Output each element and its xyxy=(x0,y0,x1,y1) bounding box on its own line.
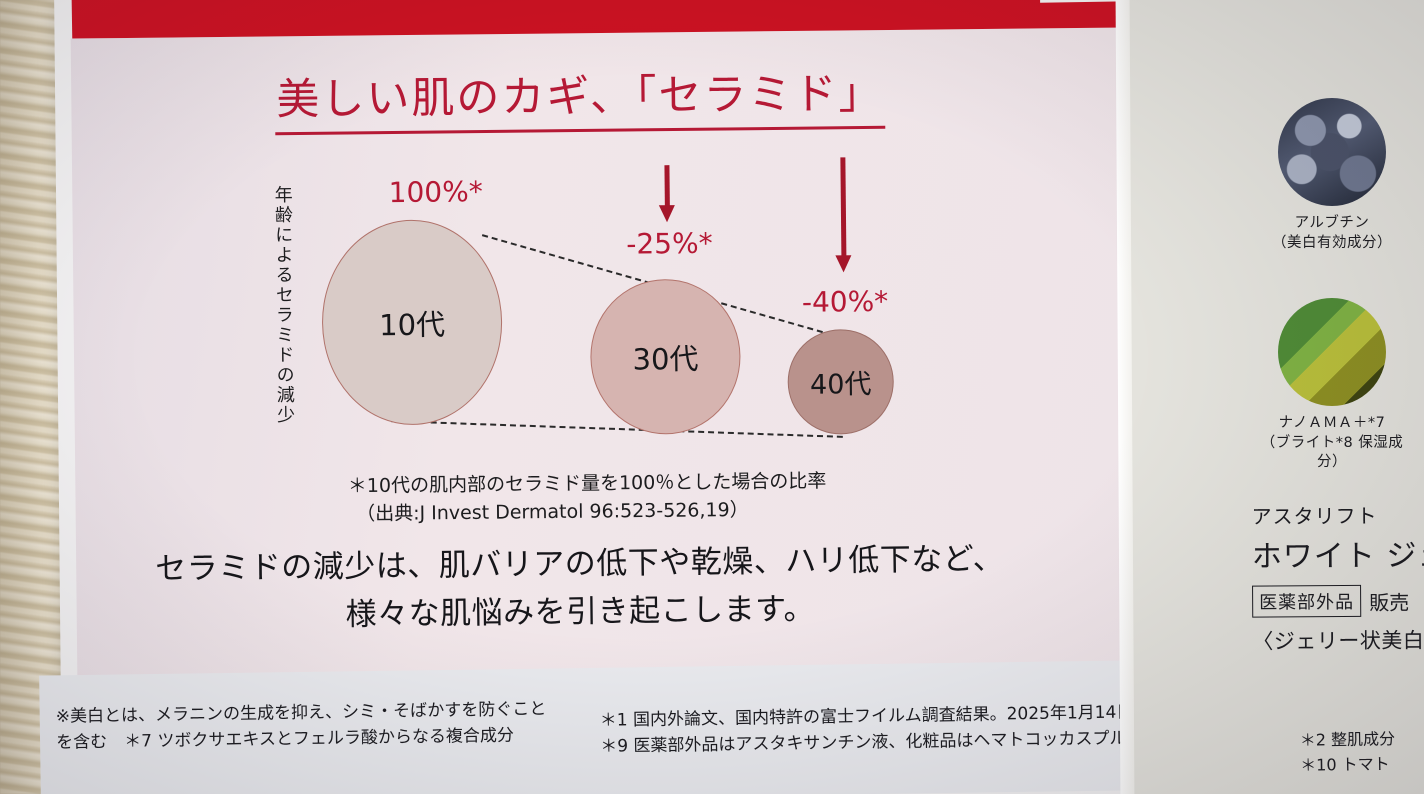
body-copy: セラミドの減少は、肌バリアの低下や乾燥、ハリ低下など、 様々な肌悩みを引き起こし… xyxy=(129,535,1030,642)
product-brand: アスタリフト xyxy=(1252,499,1424,529)
value-label-30s: -25%* xyxy=(626,227,713,261)
arbutin-photo-icon xyxy=(1278,98,1386,206)
chart-axis-label: 年齢によるセラミドの減少 xyxy=(261,185,294,425)
footnote-right-line-1: ＊2 整肌成分 xyxy=(1300,727,1396,753)
bubble-40s: 40代 xyxy=(787,329,894,435)
footnote-left: ※美白とは、メラニンの生成を抑え、シミ・そばかすを防ぐこと を含む ＊7 ツボク… xyxy=(56,696,547,756)
ingredient-nano-ama: ナノＡＭＡ＋*7 （ブライト*8 保湿成分） xyxy=(1252,298,1412,473)
chart-source-note: ＊10代の肌内部のセラミド量を100％とした場合の比率 （出典:J Invest… xyxy=(348,467,949,528)
ceramide-decline-chart: 年齢によるセラミドの減少 10代 30代 40代 100%* -25%* -40… xyxy=(238,156,941,473)
ingredient-arbutin: アルブチン （美白有効成分） xyxy=(1252,98,1412,253)
page-title: 美しい肌のカギ、「セラミド」 xyxy=(250,71,910,125)
product-subtitle: 〈ジェリー状美白先 xyxy=(1252,624,1424,655)
bubble-30s: 30代 xyxy=(590,278,742,435)
ingredient-arbutin-sub: （美白有効成分） xyxy=(1252,234,1412,254)
product-category-badge: 医薬部外品 xyxy=(1252,585,1361,618)
product-name: ホワイト ジェ xyxy=(1252,530,1424,575)
footnote-right-line-2: ＊10 トマト xyxy=(1300,752,1396,778)
page-title-block: 美しい肌のカギ、「セラミド」 xyxy=(250,71,911,136)
ingredient-nano-ama-name: ナノＡＭＡ＋*7 xyxy=(1252,414,1412,434)
value-label-10s: 100%* xyxy=(389,175,483,209)
trend-line-lower xyxy=(391,420,843,438)
ingredient-arbutin-name: アルブチン xyxy=(1252,214,1412,234)
footnote-right: ＊2 整肌成分 ＊10 トマト xyxy=(1300,727,1396,778)
bubble-10s: 10代 xyxy=(321,219,503,426)
magazine-photo-scene: 美しい肌のカギ、「セラミド」 年齢によるセラミドの減少 10代 30代 40代 … xyxy=(0,0,1424,794)
ingredient-nano-ama-sub: （ブライト*8 保湿成分） xyxy=(1252,434,1412,473)
product-block: アスタリフト ホワイト ジェ 医薬部外品 販売 〈ジェリー状美白先 xyxy=(1252,499,1424,655)
down-arrow-icon-25 xyxy=(658,165,659,223)
nano-ama-photo-icon xyxy=(1278,298,1386,406)
down-arrow-icon-40 xyxy=(834,157,835,277)
value-label-40s: -40%* xyxy=(802,285,889,319)
product-sell-label: 販売 xyxy=(1369,586,1409,615)
